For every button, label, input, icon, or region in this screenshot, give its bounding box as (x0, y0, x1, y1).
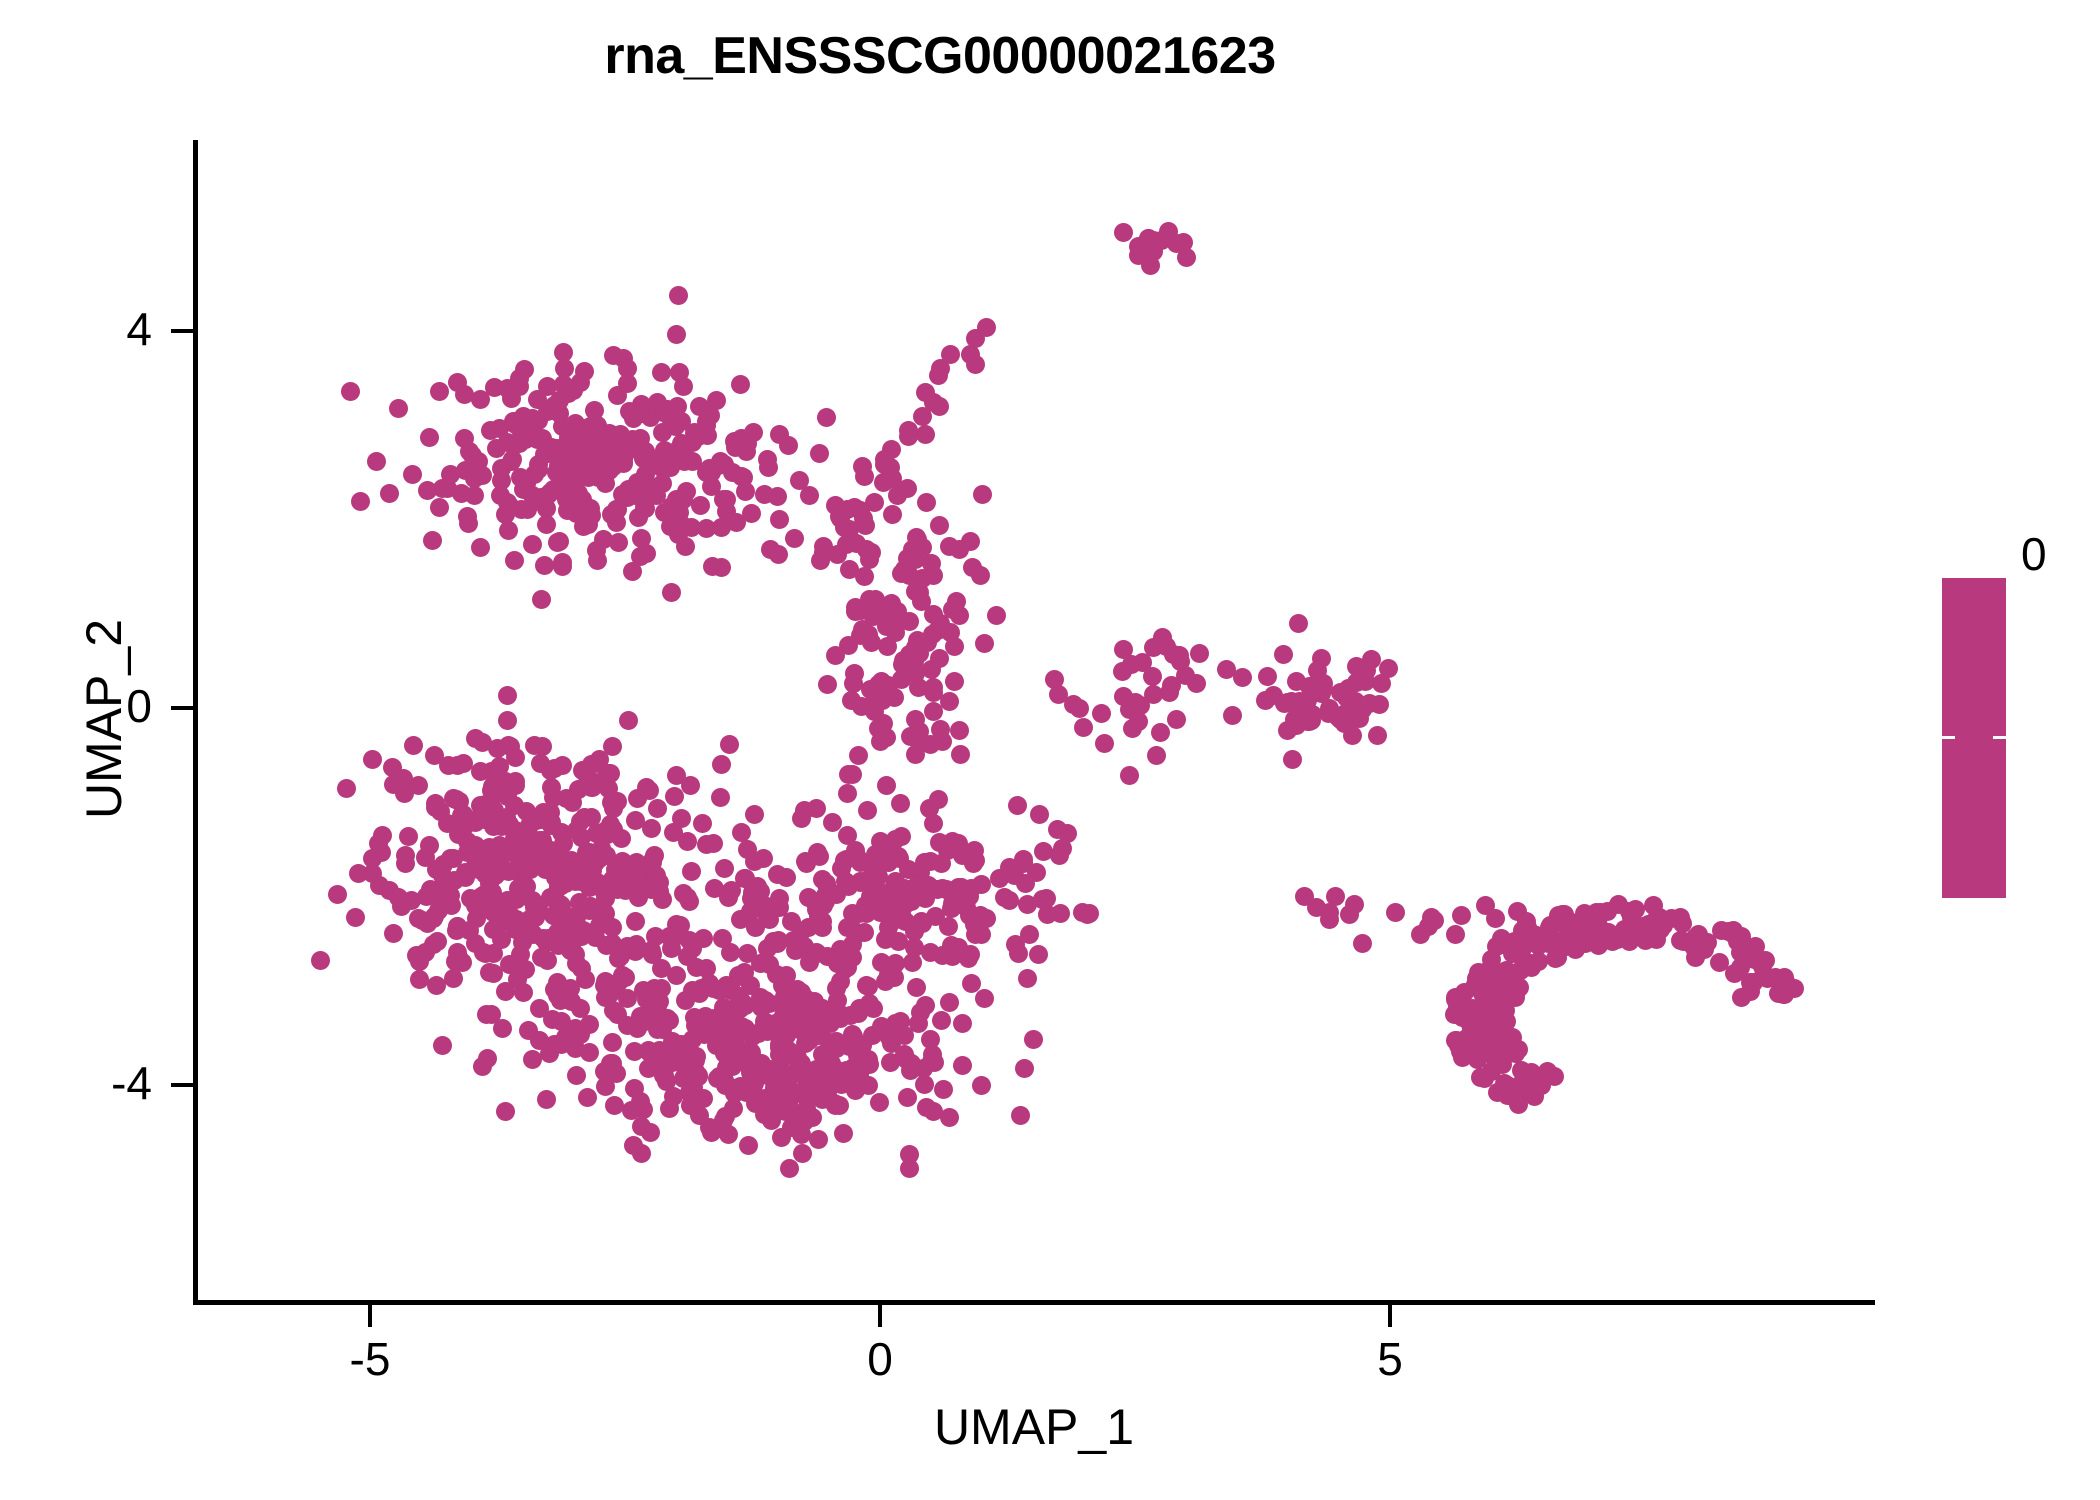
scatter-point (1274, 645, 1293, 664)
scatter-point (813, 870, 832, 889)
colorbar-tick-left (1942, 736, 1955, 739)
scatter-point (1045, 670, 1064, 689)
scatter-point (685, 1008, 704, 1027)
scatter-point (685, 423, 704, 442)
scatter-point (712, 518, 731, 537)
scatter-point (731, 375, 750, 394)
scatter-point (1372, 674, 1391, 693)
scatter-point (737, 442, 756, 461)
scatter-point (752, 998, 771, 1017)
scatter-point (694, 929, 713, 948)
scatter-point (811, 551, 830, 570)
scatter-point (428, 932, 447, 951)
scatter-point (1000, 891, 1019, 910)
scatter-point (529, 460, 548, 479)
scatter-point (1340, 905, 1359, 924)
scatter-point (622, 1101, 641, 1120)
scatter-point (905, 922, 924, 941)
scatter-point (838, 784, 857, 803)
scatter-point (409, 776, 428, 795)
scatter-point (1147, 746, 1166, 765)
scatter-point (546, 907, 565, 926)
scatter-point (1674, 932, 1693, 951)
scatter-point (1123, 719, 1142, 738)
scatter-point (907, 978, 926, 997)
scatter-point (715, 859, 734, 878)
scatter-point (454, 754, 473, 773)
scatter-point (950, 540, 969, 559)
scatter-point (876, 930, 895, 949)
scatter-point (618, 374, 637, 393)
scatter-point (889, 847, 908, 866)
scatter-point (483, 777, 502, 796)
scatter-point (910, 722, 929, 741)
scatter-point (384, 924, 403, 943)
scatter-point (1626, 900, 1645, 919)
scatter-point (553, 849, 572, 868)
scatter-point (444, 789, 463, 808)
scatter-point (510, 851, 529, 870)
scatter-point (762, 1111, 781, 1130)
scatter-point (1159, 222, 1178, 241)
scatter-point (953, 1014, 972, 1033)
scatter-point (888, 486, 907, 505)
scatter-point (883, 505, 902, 524)
scatter-point (1120, 766, 1139, 785)
scatter-point (772, 1128, 791, 1147)
scatter-point (1525, 1087, 1544, 1106)
scatter-point (639, 479, 658, 498)
scatter-point (1571, 924, 1590, 943)
scatter-point (667, 325, 686, 344)
scatter-point (1353, 934, 1372, 953)
scatter-point (689, 1066, 708, 1085)
scatter-point (634, 981, 653, 1000)
scatter-point (566, 428, 585, 447)
scatter-point (810, 444, 829, 463)
scatter-point (346, 908, 365, 927)
scatter-point (578, 1088, 597, 1107)
scatter-point (474, 943, 493, 962)
y-axis-tick-4 (171, 329, 193, 333)
x-axis-tick-label-5: 5 (1320, 1336, 1460, 1382)
scatter-point (864, 694, 883, 713)
scatter-point (1775, 968, 1794, 987)
scatter-point (821, 1014, 840, 1033)
scatter-point (924, 678, 943, 697)
scatter-point (860, 550, 879, 569)
scatter-point (777, 868, 796, 887)
scatter-point (528, 898, 547, 917)
scatter-point (915, 1075, 934, 1094)
colorbar-legend (1942, 578, 2006, 898)
scatter-point (653, 423, 672, 442)
scatter-point (554, 375, 573, 394)
scatter-point (840, 560, 859, 579)
scatter-point (1471, 1068, 1490, 1087)
scatter-point (1233, 668, 1252, 687)
colorbar-tick-right (1993, 736, 2006, 739)
page-title: rna_ENSSSCG00000021623 (0, 26, 1880, 86)
scatter-point (1126, 693, 1145, 712)
scatter-point (551, 991, 570, 1010)
scatter-point (363, 750, 382, 769)
scatter-point (975, 634, 994, 653)
scatter-point (930, 516, 949, 535)
scatter-point (648, 799, 667, 818)
scatter-point (389, 399, 408, 418)
scatter-point (505, 551, 524, 570)
scatter-point (906, 745, 925, 764)
scatter-point (722, 981, 741, 1000)
scatter-point (809, 907, 828, 926)
scatter-point (960, 906, 979, 925)
scatter-point (430, 889, 449, 908)
scatter-point (1495, 932, 1514, 951)
scatter-point (1368, 726, 1387, 745)
colorbar-tick-label-0: 0 (2021, 531, 2047, 577)
scatter-point (511, 468, 530, 487)
scatter-point (779, 436, 798, 455)
scatter-point (855, 467, 874, 486)
scatter-point (537, 1090, 556, 1109)
scatter-point (1298, 712, 1317, 731)
scatter-points-layer (195, 140, 1873, 1302)
scatter-point (418, 481, 437, 500)
scatter-point (1024, 1030, 1043, 1049)
scatter-point (843, 765, 862, 784)
scatter-point (893, 655, 912, 674)
scatter-point (455, 385, 474, 404)
scatter-point (1030, 805, 1049, 824)
scatter-point (1167, 710, 1186, 729)
scatter-point (667, 766, 686, 785)
scatter-point (973, 485, 992, 504)
scatter-point (590, 750, 609, 769)
scatter-point (553, 756, 572, 775)
scatter-point (930, 397, 949, 416)
scatter-point (931, 720, 950, 739)
scatter-point (945, 672, 964, 691)
scatter-point (537, 515, 556, 534)
scatter-point (380, 484, 399, 503)
scatter-point (691, 496, 710, 515)
scatter-point (669, 286, 688, 305)
scatter-point (478, 1049, 497, 1068)
umap-feature-plot: rna_ENSSSCG00000021623 4 0 -4 -5 0 5 UMA… (0, 0, 2100, 1500)
scatter-point (827, 885, 846, 904)
scatter-point (337, 779, 356, 798)
scatter-point (1326, 887, 1345, 906)
scatter-point (532, 488, 551, 507)
scatter-point (773, 993, 792, 1012)
scatter-point (430, 498, 449, 517)
scatter-point (1114, 223, 1133, 242)
scatter-point (585, 401, 604, 420)
scatter-point (1029, 945, 1048, 964)
scatter-point (1549, 906, 1568, 925)
scatter-point (712, 755, 731, 774)
scatter-point (827, 979, 846, 998)
scatter-point (455, 817, 474, 836)
scatter-point (1469, 963, 1488, 982)
scatter-point (580, 1015, 599, 1034)
scatter-point (827, 1039, 846, 1058)
scatter-point (817, 408, 836, 427)
scatter-point (496, 1102, 515, 1121)
scatter-point (885, 688, 904, 707)
scatter-point (823, 813, 842, 832)
scatter-point (911, 1003, 930, 1022)
scatter-point (714, 1111, 733, 1130)
scatter-point (849, 746, 868, 765)
scatter-point (1446, 990, 1465, 1009)
scatter-point (722, 881, 741, 900)
scatter-point (523, 535, 542, 554)
scatter-point (962, 974, 981, 993)
scatter-point (895, 1045, 914, 1064)
scatter-point (367, 452, 386, 471)
scatter-point (1411, 925, 1430, 944)
scatter-point (624, 1136, 643, 1155)
scatter-point (601, 815, 620, 834)
scatter-point (603, 1054, 622, 1073)
scatter-point (404, 736, 423, 755)
scatter-point (438, 814, 457, 833)
scatter-point (420, 836, 439, 855)
scatter-point (455, 429, 474, 448)
scatter-point (576, 970, 595, 989)
scatter-point (844, 674, 863, 693)
scatter-point (311, 951, 330, 970)
scatter-point (924, 814, 943, 833)
scatter-point (491, 862, 510, 881)
scatter-point (949, 942, 968, 961)
scatter-point (554, 343, 573, 362)
scatter-point (396, 854, 415, 873)
scatter-point (498, 711, 517, 730)
scatter-point (1256, 691, 1275, 710)
scatter-point (567, 1066, 586, 1085)
scatter-point (552, 1012, 571, 1031)
scatter-point (532, 590, 551, 609)
scatter-point (966, 329, 985, 348)
scatter-point (611, 947, 630, 966)
scatter-point (1386, 903, 1405, 922)
scatter-point (1479, 1015, 1498, 1034)
scatter-point (947, 592, 966, 611)
scatter-point (477, 1005, 496, 1024)
scatter-point (389, 888, 408, 907)
scatter-point (574, 504, 593, 523)
scatter-point (567, 446, 586, 465)
scatter-point (642, 819, 661, 838)
scatter-point (1331, 683, 1350, 702)
scatter-point (739, 1075, 758, 1094)
scatter-point (1048, 820, 1067, 839)
scatter-point (972, 875, 991, 894)
scatter-point (693, 814, 712, 833)
scatter-point (859, 977, 878, 996)
scatter-point (535, 556, 554, 575)
scatter-point (660, 1048, 679, 1067)
scatter-point (640, 781, 659, 800)
scatter-point (1289, 614, 1308, 633)
scatter-point (652, 979, 671, 998)
scatter-point (487, 439, 506, 458)
scatter-point (916, 425, 935, 444)
scatter-point (924, 702, 943, 721)
scatter-point (780, 1159, 799, 1178)
scatter-point (1566, 940, 1585, 959)
scatter-point (1446, 925, 1465, 944)
scatter-point (1050, 846, 1069, 865)
y-axis-line (193, 140, 198, 1305)
scatter-point (858, 801, 877, 820)
scatter-point (862, 633, 881, 652)
scatter-point (420, 428, 439, 447)
scatter-point (1506, 988, 1525, 1007)
scatter-point (433, 1036, 452, 1055)
scatter-point (605, 1096, 624, 1115)
scatter-point (492, 459, 511, 478)
scatter-point (498, 686, 517, 705)
scatter-point (603, 1033, 622, 1052)
scatter-point (864, 854, 883, 873)
scatter-point (922, 660, 941, 679)
scatter-point (950, 721, 969, 740)
y-axis-label: UMAP_2 (75, 319, 133, 1119)
scatter-point (1223, 706, 1242, 725)
scatter-point (1074, 718, 1093, 737)
scatter-point (753, 1020, 772, 1039)
scatter-point (547, 463, 566, 482)
scatter-point (341, 382, 360, 401)
scatter-point (834, 1124, 853, 1143)
scatter-point (633, 1013, 652, 1032)
scatter-point (754, 849, 773, 868)
scatter-point (759, 458, 778, 477)
scatter-point (745, 1054, 764, 1073)
scatter-point (871, 732, 890, 751)
scatter-point (553, 557, 572, 576)
scatter-point (351, 492, 370, 511)
scatter-point (672, 809, 691, 828)
scatter-point (966, 925, 985, 944)
scatter-point (665, 787, 684, 806)
scatter-point (1018, 969, 1037, 988)
scatter-point (444, 969, 463, 988)
scatter-point (424, 909, 443, 928)
scatter-point (1258, 667, 1277, 686)
scatter-point (934, 1080, 953, 1099)
scatter-point (953, 1056, 972, 1075)
scatter-point (891, 794, 910, 813)
scatter-point (743, 885, 762, 904)
scatter-point (399, 827, 418, 846)
scatter-point (975, 989, 994, 1008)
scatter-point (966, 355, 985, 374)
scatter-point (616, 881, 635, 900)
scatter-point (972, 1076, 991, 1095)
scatter-point (941, 345, 960, 364)
scatter-point (476, 809, 495, 828)
scatter-point (709, 456, 728, 475)
scatter-point (658, 1009, 677, 1028)
scatter-point (516, 430, 535, 449)
scatter-point (842, 691, 861, 710)
scatter-point (736, 482, 755, 501)
scatter-point (678, 888, 697, 907)
scatter-point (898, 1088, 917, 1107)
scatter-point (744, 423, 763, 442)
scatter-point (631, 547, 650, 566)
scatter-point (423, 531, 442, 550)
scatter-point (498, 379, 517, 398)
scatter-point (582, 808, 601, 827)
scatter-point (430, 382, 449, 401)
scatter-point (473, 733, 492, 752)
scatter-point (530, 831, 549, 850)
scatter-point (917, 493, 936, 512)
scatter-point (594, 530, 613, 549)
x-axis-tick-5 (1388, 1305, 1392, 1327)
scatter-point (971, 566, 990, 585)
scatter-point (924, 1102, 943, 1121)
scatter-point (713, 929, 732, 948)
scatter-point (661, 458, 680, 477)
scatter-point (502, 907, 521, 926)
scatter-point (1283, 750, 1302, 769)
scatter-point (987, 606, 1006, 625)
scatter-point (738, 944, 757, 963)
scatter-point (372, 843, 391, 862)
scatter-point (458, 843, 477, 862)
scatter-point (407, 946, 426, 965)
scatter-point (525, 736, 544, 755)
scatter-point (795, 937, 814, 956)
x-axis-tick-0 (878, 1305, 882, 1327)
scatter-point (828, 954, 847, 973)
scatter-point (588, 551, 607, 570)
scatter-point (870, 884, 889, 903)
scatter-point (872, 1017, 891, 1036)
scatter-point (1080, 904, 1099, 923)
scatter-point (940, 1108, 959, 1127)
x-axis-line (193, 1300, 1875, 1305)
scatter-point (471, 538, 490, 557)
scatter-point (1190, 644, 1209, 663)
scatter-point (712, 558, 731, 577)
scatter-point (818, 675, 837, 694)
scatter-point (460, 921, 479, 940)
scatter-point (1070, 699, 1089, 718)
y-axis-tick-neg4 (171, 1083, 193, 1087)
scatter-point (940, 993, 959, 1012)
scatter-point (882, 440, 901, 459)
scatter-point (877, 776, 896, 795)
scatter-point (1320, 910, 1339, 929)
scatter-point (616, 968, 635, 987)
scatter-point (676, 537, 695, 556)
scatter-point (932, 1011, 951, 1030)
scatter-point (1151, 723, 1170, 742)
scatter-point (837, 535, 856, 554)
scatter-point (425, 746, 444, 765)
scatter-point (670, 363, 689, 382)
scatter-point (669, 518, 688, 537)
scatter-point (932, 854, 951, 873)
